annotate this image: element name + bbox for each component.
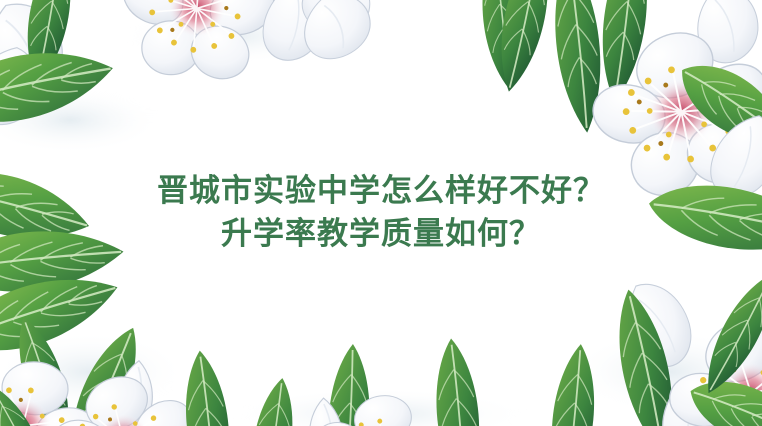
page-title: 晋城市实验中学怎么样好不好？ 升学率教学质量如何？ [0,170,762,256]
decor-top-center-group [293,0,527,90]
decor-bottom-left-group [0,259,214,426]
decor-bottom-center-group [179,337,485,426]
decor-left-edge-group [0,37,127,299]
decor-bottom-right-group [545,266,762,426]
decor-top-left-group [0,0,333,134]
title-line-1: 晋城市实验中学怎么样好不好？ [0,170,762,213]
poster-canvas: 晋城市实验中学怎么样好不好？ 升学率教学质量如何？ [0,0,762,426]
title-line-2: 升学率教学质量如何？ [0,213,762,256]
